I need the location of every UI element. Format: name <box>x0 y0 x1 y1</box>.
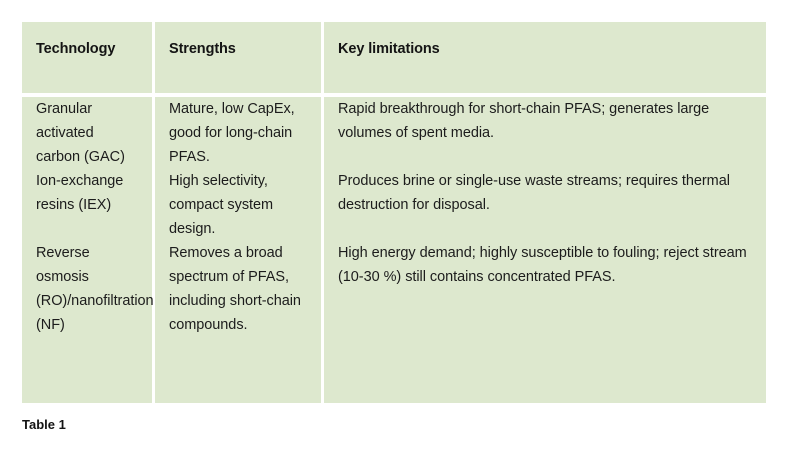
cell-strengths: Removes a broad spectrum of PFAS, includ… <box>155 241 321 337</box>
cell-text: Ion-exchange resins (IEX) <box>36 169 138 217</box>
table-row: Ion-exchange resins (IEX) High selectivi… <box>22 169 766 241</box>
comparison-table-container: Technology Strengths Key limitations Gra… <box>22 22 766 403</box>
column-header-strengths: Strengths <box>155 22 321 93</box>
pfas-technology-table: Technology Strengths Key limitations Gra… <box>19 22 769 403</box>
cell-strengths: High selectivity, compact system design. <box>155 169 321 241</box>
cell-text: Produces brine or single-use waste strea… <box>338 169 752 217</box>
cell-technology: Ion-exchange resins (IEX) <box>22 169 152 241</box>
cell-technology: Granular activated carbon (GAC) <box>22 97 152 169</box>
table-header: Technology Strengths Key limitations <box>22 22 766 93</box>
filler-cell-strengths <box>155 337 321 403</box>
cell-limitations: Rapid breakthrough for short-chain PFAS;… <box>324 97 766 169</box>
cell-text: Mature, low CapEx, good for long-chain P… <box>169 97 307 169</box>
cell-text: High energy demand; highly susceptible t… <box>338 241 752 289</box>
column-header-limitations: Key limitations <box>324 22 766 93</box>
table-filler-row <box>22 337 766 403</box>
cell-strengths: Mature, low CapEx, good for long-chain P… <box>155 97 321 169</box>
table-header-row: Technology Strengths Key limitations <box>22 22 766 93</box>
document-page: Technology Strengths Key limitations Gra… <box>0 0 800 450</box>
column-header-technology: Technology <box>22 22 152 93</box>
cell-text: Reverse osmosis (RO)/nanofiltration (NF) <box>36 241 138 337</box>
cell-text: Granular activated carbon (GAC) <box>36 97 138 169</box>
cell-text: Rapid breakthrough for short-chain PFAS;… <box>338 97 752 145</box>
table-row: Granular activated carbon (GAC) Mature, … <box>22 97 766 169</box>
table-body: Granular activated carbon (GAC) Mature, … <box>22 97 766 403</box>
cell-limitations: High energy demand; highly susceptible t… <box>324 241 766 337</box>
cell-limitations: Produces brine or single-use waste strea… <box>324 169 766 241</box>
table-row: Reverse osmosis (RO)/nanofiltration (NF)… <box>22 241 766 337</box>
filler-cell-limitations <box>324 337 766 403</box>
cell-text: High selectivity, compact system design. <box>169 169 307 241</box>
cell-technology: Reverse osmosis (RO)/nanofiltration (NF) <box>22 241 152 337</box>
table-caption: Table 1 <box>22 417 66 433</box>
filler-cell-technology <box>22 337 152 403</box>
cell-text: Removes a broad spectrum of PFAS, includ… <box>169 241 307 337</box>
